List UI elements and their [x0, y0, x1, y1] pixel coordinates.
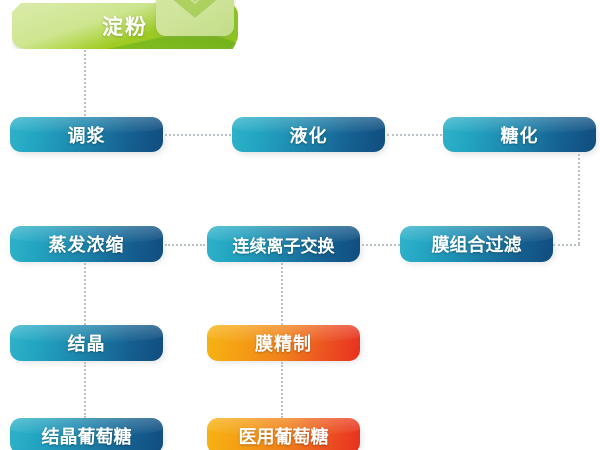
node-label-evaporation: 蒸发浓缩: [49, 231, 125, 257]
node-crystallization[interactable]: 结晶: [10, 325, 163, 361]
connector-membrane-filter-to-ion-exchange: [362, 244, 400, 246]
node-slurry[interactable]: 调浆: [10, 117, 163, 152]
chevron-down-icon: [156, 0, 234, 36]
connector-ion-exchange-to-membrane-refining: [281, 263, 283, 325]
connector-membrane-refining-to-medical-glucose: [281, 362, 283, 418]
connector-saccharification-down: [578, 154, 580, 244]
node-label-ion-exchange: 连续离子交换: [233, 232, 335, 257]
connector-starch-to-slurry: [84, 50, 86, 116]
connector-evaporation-to-crystallization: [84, 263, 86, 325]
connector-saccharification-to-membrane-filter: [553, 244, 580, 246]
node-crystal-glucose[interactable]: 结晶葡萄糖: [10, 418, 163, 450]
node-ion-exchange[interactable]: 连续离子交换: [207, 226, 360, 262]
node-label-liquefaction: 液化: [290, 122, 328, 148]
node-label-crystal-glucose: 结晶葡萄糖: [42, 423, 132, 449]
node-label-membrane-refining: 膜精制: [255, 330, 312, 356]
connector-crystallization-to-crystal-glucose: [84, 362, 86, 418]
node-evaporation[interactable]: 蒸发浓缩: [10, 226, 163, 262]
node-label-medical-glucose: 医用葡萄糖: [239, 423, 329, 449]
connector-liquefaction-to-saccharification: [387, 134, 442, 136]
connector-slurry-to-liquefaction: [165, 134, 231, 136]
node-medical-glucose[interactable]: 医用葡萄糖: [207, 418, 360, 450]
flowchart-canvas: 淀粉 调浆 液化 糖化 蒸发浓缩 连续离子交换 膜组合过滤: [0, 0, 600, 450]
connector-ion-exchange-to-evaporation: [165, 244, 205, 246]
node-label-slurry: 调浆: [68, 122, 106, 148]
node-label-saccharification: 糖化: [501, 122, 539, 148]
node-label-crystallization: 结晶: [68, 330, 106, 356]
node-membrane-refining[interactable]: 膜精制: [207, 325, 360, 361]
node-liquefaction[interactable]: 液化: [232, 117, 385, 152]
node-label-membrane-filter: 膜组合过滤: [432, 231, 522, 257]
node-membrane-filter[interactable]: 膜组合过滤: [400, 226, 553, 262]
node-saccharification[interactable]: 糖化: [443, 117, 596, 152]
